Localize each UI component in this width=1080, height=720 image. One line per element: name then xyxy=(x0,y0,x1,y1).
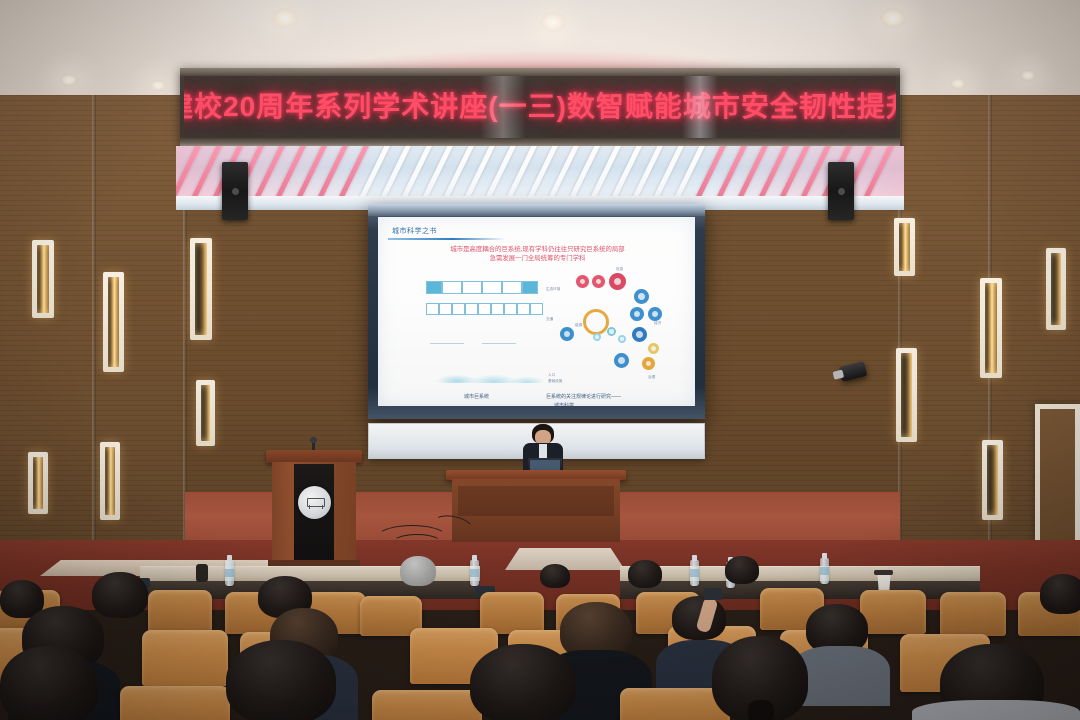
podium xyxy=(272,450,356,562)
auditorium-seat xyxy=(120,686,230,720)
projection-screen: 城市科学之书 城市是高度耦合的巨系统,现有学科仍往往只研究巨系统的局部 急需发展… xyxy=(368,204,705,419)
slide-ring-graphic xyxy=(583,309,609,335)
audience-head xyxy=(1040,574,1080,614)
slide-node-icon xyxy=(576,275,589,288)
slide-mini-label: 能源 xyxy=(575,323,582,328)
auditorium-seat xyxy=(860,590,926,634)
ceiling-downlight xyxy=(60,74,78,86)
slide-footer-right: 巨系统的关注规律论进行研究—— xyxy=(546,393,621,400)
slide-node-icon xyxy=(648,307,662,321)
slide-divider xyxy=(430,343,464,344)
wall-niche xyxy=(982,440,1003,520)
laptop-screen xyxy=(530,460,560,470)
slide-content: 城市科学之书 城市是高度耦合的巨系统,现有学科仍往往只研究巨系统的局部 急需发展… xyxy=(378,217,695,406)
slide-node-icon xyxy=(618,335,626,343)
slide-divider xyxy=(482,343,516,344)
lecture-hall-photo: 建校20周年系列学术讲座(一三)数智赋能城市安全韧性提升 城市科学之书 城市是高… xyxy=(0,0,1080,720)
slide-title-rule xyxy=(388,238,506,240)
slide-lead-line-1: 城市是高度耦合的巨系统,现有学科仍往往只研究巨系统的局部 xyxy=(394,245,681,254)
slide-footer-right-2: 城市科学 xyxy=(554,402,574,406)
wall-seam xyxy=(92,95,96,565)
ceiling-downlight xyxy=(880,8,906,28)
soffit-slat xyxy=(176,146,204,200)
ceiling-downlight xyxy=(540,12,566,32)
auditorium-seat xyxy=(142,630,228,686)
audience-shoulders xyxy=(912,700,1080,720)
slide-mini-label: 经济 xyxy=(654,321,661,326)
audience-head-front xyxy=(470,644,576,720)
slide-node-icon xyxy=(592,275,605,288)
ponytail xyxy=(748,700,774,720)
slide-mini-label: 信息 xyxy=(616,267,623,272)
line-array-speaker xyxy=(828,162,854,220)
slide-title: 城市科学之书 xyxy=(392,226,437,236)
slide-node-icon xyxy=(648,343,659,354)
wall-niche xyxy=(190,238,212,340)
line-array-speaker xyxy=(222,162,248,220)
slide-node-icon xyxy=(632,327,647,342)
wall-niche xyxy=(100,442,120,520)
slide-node-icon xyxy=(614,353,629,368)
slide-mini-label: 人口 xyxy=(548,373,555,378)
slide-node-icon xyxy=(642,357,655,370)
phone-on-desk xyxy=(196,564,208,582)
slide-node-icon xyxy=(634,289,649,304)
audience-head xyxy=(92,572,148,618)
slide-block-row-top xyxy=(426,281,538,294)
coffee-cup-lid xyxy=(874,570,893,575)
wall-niche xyxy=(896,348,917,442)
wall-niche xyxy=(103,272,124,372)
slide-node-icon xyxy=(607,327,616,336)
auditorium-seat xyxy=(940,592,1006,636)
wall-niche xyxy=(980,278,1002,378)
wall-niche xyxy=(894,218,915,276)
slide-mini-label: 基础设施 xyxy=(548,379,562,384)
ceiling-downlight xyxy=(1020,70,1036,81)
water-bottle xyxy=(470,560,479,586)
led-banner-screen: 建校20周年系列学术讲座(一三)数智赋能城市安全韧性提升 xyxy=(184,76,896,138)
wall-niche xyxy=(196,380,215,446)
audience-head xyxy=(400,556,436,586)
ceiling-downlight xyxy=(272,8,298,28)
slide-wave-graphic xyxy=(432,365,542,383)
presenter-table xyxy=(452,470,620,542)
ceiling-downlight xyxy=(150,80,166,91)
ceiling-downlight xyxy=(950,78,966,89)
slide-footer-left: 城市巨系统 xyxy=(464,393,489,400)
wall-niche xyxy=(28,452,48,514)
led-banner-text: 建校20周年系列学术讲座(一三)数智赋能城市安全韧性提升 xyxy=(184,93,896,121)
slide-block-row-bottom xyxy=(426,303,543,315)
wall-niche xyxy=(32,240,54,318)
slide-mini-label: 治理 xyxy=(648,375,655,380)
table-shading xyxy=(458,486,614,516)
slide-node-icon xyxy=(593,333,601,341)
slide-node-icon xyxy=(630,307,644,321)
auditorium-seat xyxy=(372,690,482,720)
audience-head xyxy=(725,556,759,584)
water-bottle xyxy=(820,558,829,584)
slide-node-icon xyxy=(560,327,574,341)
audience-head-front xyxy=(0,646,98,720)
slide-lead-text: 城市是高度耦合的巨系统,现有学科仍往往只研究巨系统的局部 急需发展一门全局统筹的… xyxy=(394,245,681,263)
slide-mini-label: 交通 xyxy=(546,317,553,322)
wall-niche xyxy=(1046,248,1066,330)
screen-top-sheen xyxy=(368,204,705,216)
decorative-slat-soffit xyxy=(176,146,904,200)
audience-head xyxy=(628,560,662,588)
floor-cable xyxy=(392,534,442,552)
audience-head-front xyxy=(226,640,336,720)
ding-vessel-icon xyxy=(307,496,323,509)
raised-phone xyxy=(704,588,722,600)
slide-node-icon xyxy=(609,273,626,290)
water-bottle xyxy=(225,560,234,586)
water-bottle xyxy=(690,560,699,586)
school-emblem-icon xyxy=(298,486,331,519)
led-banner-board: 建校20周年系列学术讲座(一三)数智赋能城市安全韧性提升 xyxy=(180,68,900,146)
auditorium-seat xyxy=(148,590,212,632)
slide-mini-label: 生态环境 xyxy=(546,287,560,292)
audience-head xyxy=(540,564,570,588)
slide-lead-line-2: 急需发展一门全局统筹的专门学科 xyxy=(394,254,681,263)
